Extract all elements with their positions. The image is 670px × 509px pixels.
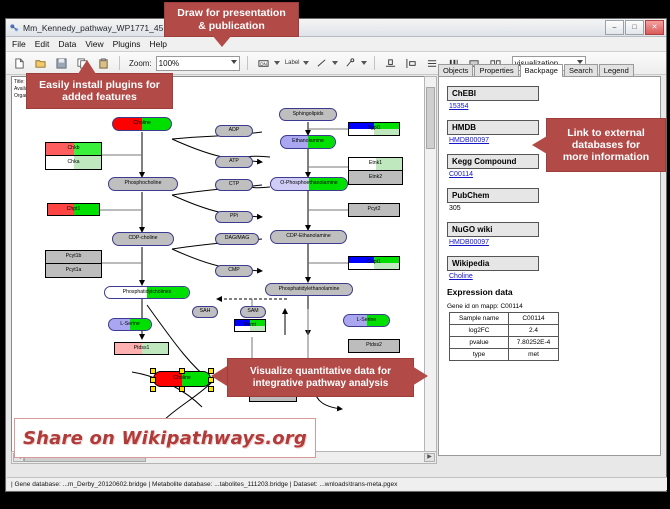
gene-label: Ptdss1	[134, 346, 150, 351]
selection-handle[interactable]	[150, 386, 156, 392]
share-text: Share on Wikipathways.org	[23, 428, 307, 449]
gene-label: Cept1	[367, 260, 381, 265]
callout-links: Link to external databases for more info…	[546, 118, 666, 172]
db-header-kegg: Kegg Compound	[447, 154, 539, 169]
gene-pcyt1a[interactable]: Pcyt1a	[46, 264, 101, 277]
chevron-down-icon[interactable]	[361, 61, 367, 65]
new-icon[interactable]	[11, 55, 28, 72]
gene-label: Pcyt2	[368, 207, 381, 212]
callout-draw-arrow-icon	[212, 35, 232, 47]
save-icon[interactable]	[53, 55, 70, 72]
canvas-vertical-scrollbar[interactable]	[424, 76, 437, 452]
gene-label: Etnk2	[369, 175, 382, 180]
gene-pemt[interactable]: Pemt	[234, 319, 266, 332]
node-adp[interactable]: ADP	[215, 125, 253, 137]
node-label: Choline	[133, 121, 151, 126]
callout-draw: Draw for presentation & publication	[164, 2, 299, 37]
gene-group-chk[interactable]: Chkb Chka	[45, 142, 102, 170]
node-label: ATP	[229, 159, 239, 164]
menu-plugins[interactable]: Plugins	[113, 39, 141, 49]
node-label: Phosphocholine	[125, 181, 162, 186]
gene-label: Pcyt1b	[66, 254, 82, 259]
selection-handle[interactable]	[179, 368, 185, 374]
node-cdp-ethanolamine[interactable]: CDP-Ethanolamine	[270, 230, 347, 244]
node-label: CMP	[228, 268, 240, 273]
node-choline-top[interactable]: Choline	[112, 117, 172, 131]
toolbar-separator-2	[247, 56, 248, 70]
line-icon[interactable]	[313, 55, 330, 72]
db-link-nugo[interactable]: HMDB00097	[449, 239, 660, 246]
toolbar-separator-3	[374, 56, 375, 70]
node-l-serine-left[interactable]: L-Serine	[108, 318, 152, 331]
gene-pcyt2[interactable]: Pcyt2	[348, 203, 400, 217]
node-sah[interactable]: SAH	[192, 306, 218, 318]
menu-view[interactable]: View	[85, 39, 103, 49]
node-ctp[interactable]: CTP	[215, 179, 253, 191]
row-value: 2.4	[509, 325, 559, 337]
row-value: 7.80252E-4	[509, 337, 559, 349]
node-atp[interactable]: ATP	[215, 156, 253, 168]
node-sam[interactable]: SAM	[240, 306, 266, 318]
row-key: type	[450, 349, 509, 361]
node-label: CDP-Ethanolamine	[286, 234, 330, 239]
row-value: met	[509, 349, 559, 361]
chevron-down-icon[interactable]	[303, 61, 309, 65]
row-key: Sample name	[450, 313, 509, 325]
node-label: Choline	[173, 376, 191, 381]
chevron-down-icon[interactable]	[231, 60, 237, 64]
node-phosphatidylcholines[interactable]: Phosphatidylcholines	[104, 286, 190, 299]
expression-data-heading: Expression data	[447, 287, 660, 297]
node-label: L-Serine	[120, 322, 140, 327]
node-cmp[interactable]: CMP	[215, 265, 253, 277]
gene-label: Chpt1	[67, 207, 81, 212]
table-row: type met	[450, 349, 559, 361]
db-link-chebi[interactable]: 15354	[449, 103, 660, 110]
tab-properties[interactable]: Properties	[474, 64, 518, 76]
row-key: log2FC	[450, 325, 509, 337]
selection-handle[interactable]	[208, 386, 214, 392]
node-ethanolamine[interactable]: Ethanolamine	[280, 135, 336, 149]
datanode-tool[interactable]: DN	[255, 55, 280, 72]
node-phosphatidylethanolamine[interactable]: Phosphatidylethanolamine	[265, 283, 353, 296]
svg-text:DN: DN	[260, 61, 267, 66]
label-icon[interactable]: Label	[284, 55, 301, 72]
callout-visualize: Visualize quantitative data for integrat…	[227, 358, 414, 397]
node-label: DAG/MAG	[225, 236, 250, 241]
tab-objects[interactable]: Objects	[438, 64, 473, 76]
window-titlebar: Mm_Kennedy_pathway_WP1771_45176.gpml – □…	[6, 19, 666, 37]
gene-chpt1[interactable]: Chpt1	[47, 203, 100, 216]
node-label: ADP	[229, 128, 240, 133]
anchor-icon[interactable]	[342, 55, 359, 72]
gene-etnk1[interactable]: Etnk1	[349, 158, 402, 171]
db-value-pubchem: 305	[449, 205, 660, 212]
chevron-down-icon[interactable]	[332, 61, 338, 65]
db-header-wikipedia: Wikipedia	[447, 256, 539, 271]
gene-label: Ptdss2	[366, 343, 382, 348]
selection-handle[interactable]	[150, 368, 156, 374]
distribute-icon[interactable]	[403, 55, 420, 72]
node-label: SAM	[247, 309, 258, 314]
datanode-icon[interactable]: DN	[255, 55, 272, 72]
node-phosphocholine[interactable]: Phosphocholine	[108, 177, 178, 191]
callout-visualize-arrow-right-icon	[412, 366, 428, 386]
db-link-wikipedia[interactable]: Choline	[449, 273, 660, 280]
label-tool[interactable]: Label	[284, 55, 309, 72]
gene-label: Pcyt1a	[66, 268, 82, 273]
gene-chka[interactable]: Chka	[46, 156, 101, 169]
zoom-value: 100%	[159, 59, 179, 68]
node-label: CTP	[229, 182, 239, 187]
db-header-hmdb: HMDB	[447, 120, 539, 135]
callout-plugins-arrow-icon	[78, 60, 96, 74]
node-ppi[interactable]: PPi	[215, 211, 253, 223]
gene-label: Chkb	[67, 146, 79, 151]
menu-file[interactable]: File	[12, 39, 26, 49]
status-bar: | Gene database: ...m_Derby_20120602.bri…	[7, 477, 667, 490]
node-label: L-Serine	[357, 318, 377, 323]
scroll-right-arrow[interactable]: ▶	[424, 453, 435, 462]
gene-ptdss2[interactable]: Ptdss2	[348, 339, 400, 353]
callout-share: Share on Wikipathways.org	[14, 418, 316, 458]
table-row: log2FC 2.4	[450, 325, 559, 337]
tab-search[interactable]: Search	[564, 64, 598, 76]
expression-table: Sample name C00114 log2FC 2.4 pvalue 7.8…	[449, 312, 559, 361]
gene-label: Sgpl1	[367, 126, 380, 131]
gene-label: Chka	[67, 160, 79, 165]
menu-data[interactable]: Data	[58, 39, 76, 49]
row-value: C00114	[509, 313, 559, 325]
node-label: PPi	[230, 214, 238, 219]
db-header-chebi: ChEBI	[447, 86, 539, 101]
align-icon[interactable]	[382, 55, 399, 72]
zoom-combo[interactable]: 100%	[156, 56, 240, 71]
callout-visualize-arrow-icon	[211, 366, 227, 386]
node-label: SAH	[200, 309, 211, 314]
node-label: O-Phosphoethanolamine	[280, 181, 337, 186]
callout-plugins: Easily install plugins for added feature…	[26, 73, 173, 109]
paste-icon[interactable]	[95, 55, 112, 72]
node-label: CDP-choline	[128, 236, 157, 241]
tab-backpage[interactable]: Backpage	[520, 64, 563, 77]
callout-links-arrow-icon	[532, 136, 547, 154]
menubar[interactable]: File Edit Data View Plugins Help	[6, 37, 666, 52]
selection-handle[interactable]	[179, 386, 185, 392]
menu-help[interactable]: Help	[150, 39, 167, 49]
status-text: | Gene database: ...m_Derby_20120602.bri…	[11, 481, 397, 488]
gene-etnk2[interactable]: Etnk2	[349, 171, 402, 184]
line-tool[interactable]	[313, 55, 338, 72]
gene-pcyt1b[interactable]: Pcyt1b	[46, 251, 101, 264]
app-icon	[9, 23, 19, 33]
gene-group-pcyt1[interactable]: Pcyt1b Pcyt1a	[45, 250, 102, 278]
open-icon[interactable]	[32, 55, 49, 72]
gene-chkb[interactable]: Chkb	[46, 143, 101, 156]
window-controls[interactable]: – □ ✕	[605, 20, 664, 35]
node-sphingolipids[interactable]: Sphingolipids	[279, 108, 337, 121]
chevron-down-icon[interactable]	[274, 61, 280, 65]
row-key: pvalue	[450, 337, 509, 349]
gene-cept1[interactable]: Cept1	[348, 256, 400, 270]
menu-edit[interactable]: Edit	[35, 39, 50, 49]
screenshot-root: Mm_Kennedy_pathway_WP1771_45176.gpml – □…	[0, 0, 670, 509]
gene-group-etnk[interactable]: Etnk1 Etnk2	[348, 157, 403, 185]
side-panel-tabs[interactable]: Objects Properties Backpage Search Legen…	[438, 63, 661, 77]
selection-handle[interactable]	[150, 377, 156, 383]
gene-ptdss1[interactable]: Ptdss1	[114, 342, 169, 355]
table-row: Sample name C00114	[450, 313, 559, 325]
toolbar-separator	[119, 56, 120, 70]
node-o-phosphoethanolamine[interactable]: O-Phosphoethanolamine	[270, 177, 348, 191]
db-header-nugo: NuGO wiki	[447, 222, 539, 237]
node-l-serine-right[interactable]: L-Serine	[343, 314, 390, 327]
gene-label: Pemt	[244, 323, 256, 328]
anchor-tool[interactable]	[342, 55, 367, 72]
db-header-pubchem: PubChem	[447, 188, 539, 203]
node-label: Ethanolamine	[292, 139, 324, 144]
tab-legend[interactable]: Legend	[599, 64, 634, 76]
gene-label: Etnk1	[369, 161, 382, 166]
scroll-thumb[interactable]	[426, 87, 435, 149]
gene-id-on-mapp: Gene id on mapp: C00114	[447, 303, 660, 310]
db-link-kegg[interactable]: C00114	[449, 171, 660, 178]
table-row: pvalue 7.80252E-4	[450, 337, 559, 349]
node-label: Sphingolipids	[293, 112, 324, 117]
node-cdp-choline[interactable]: CDP-choline	[112, 232, 174, 246]
node-dag-mag[interactable]: DAG/MAG	[215, 233, 259, 245]
minimize-button[interactable]: –	[605, 20, 624, 35]
close-button[interactable]: ✕	[645, 20, 664, 35]
maximize-button[interactable]: □	[625, 20, 644, 35]
zoom-label: Zoom:	[129, 59, 152, 68]
node-label: Phosphatidylethanolamine	[279, 287, 340, 292]
node-label: Phosphatidylcholines	[123, 290, 172, 295]
gene-sgpl1[interactable]: Sgpl1	[348, 122, 400, 136]
